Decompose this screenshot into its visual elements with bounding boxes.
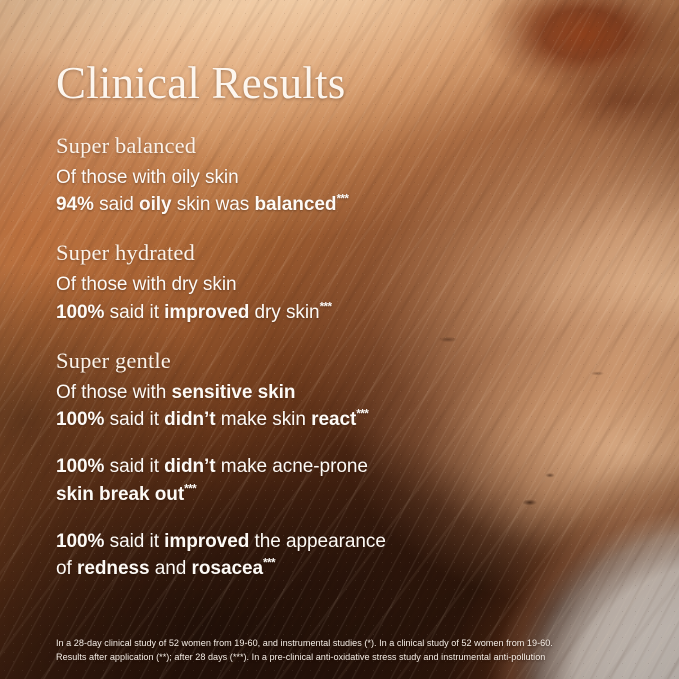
claim-heading: Super balanced — [56, 132, 623, 160]
claim-block-super-hydrated: Super hydrated Of those with dry skin 10… — [56, 239, 623, 324]
footnote-disclaimer: In a 28-day clinical study of 52 women f… — [56, 636, 641, 664]
footnote-line-2: Results after application (**); after 28… — [56, 650, 641, 664]
claim-line-statistic: 100% said it improved dry skin*** — [56, 300, 623, 325]
claim-line-statistic: 100% said it improved the appearance — [56, 529, 623, 554]
page-title: Clinical Results — [56, 61, 623, 106]
claim-line-primary: Of those with oily skin — [56, 165, 623, 190]
claim-heading: Super hydrated — [56, 239, 623, 267]
claims-list: Super balanced Of those with oily skin 9… — [56, 132, 623, 581]
claim-block-acne-prone: 100% said it didn’t make acne-prone skin… — [56, 454, 623, 507]
claim-block-redness-rosacea: 100% said it improved the appearance of … — [56, 529, 623, 582]
claim-line-statistic-cont: skin break out*** — [56, 482, 623, 507]
claim-block-super-gentle: Super gentle Of those with sensitive ski… — [56, 347, 623, 432]
claim-line-primary: Of those with dry skin — [56, 272, 623, 297]
claim-line-primary: Of those with sensitive skin — [56, 380, 623, 405]
claim-line-statistic-cont: of redness and rosacea*** — [56, 556, 623, 581]
clinical-results-poster: Clinical Results Super balanced Of those… — [0, 0, 679, 679]
claim-line-statistic: 100% said it didn’t make skin react*** — [56, 407, 623, 432]
claim-block-super-balanced: Super balanced Of those with oily skin 9… — [56, 132, 623, 217]
claim-line-statistic: 94% said oily skin was balanced*** — [56, 192, 623, 217]
claim-line-statistic: 100% said it didn’t make acne-prone — [56, 454, 623, 479]
footnote-line-1: In a 28-day clinical study of 52 women f… — [56, 636, 641, 650]
claim-heading: Super gentle — [56, 347, 623, 375]
content-area: Clinical Results Super balanced Of those… — [0, 0, 679, 679]
